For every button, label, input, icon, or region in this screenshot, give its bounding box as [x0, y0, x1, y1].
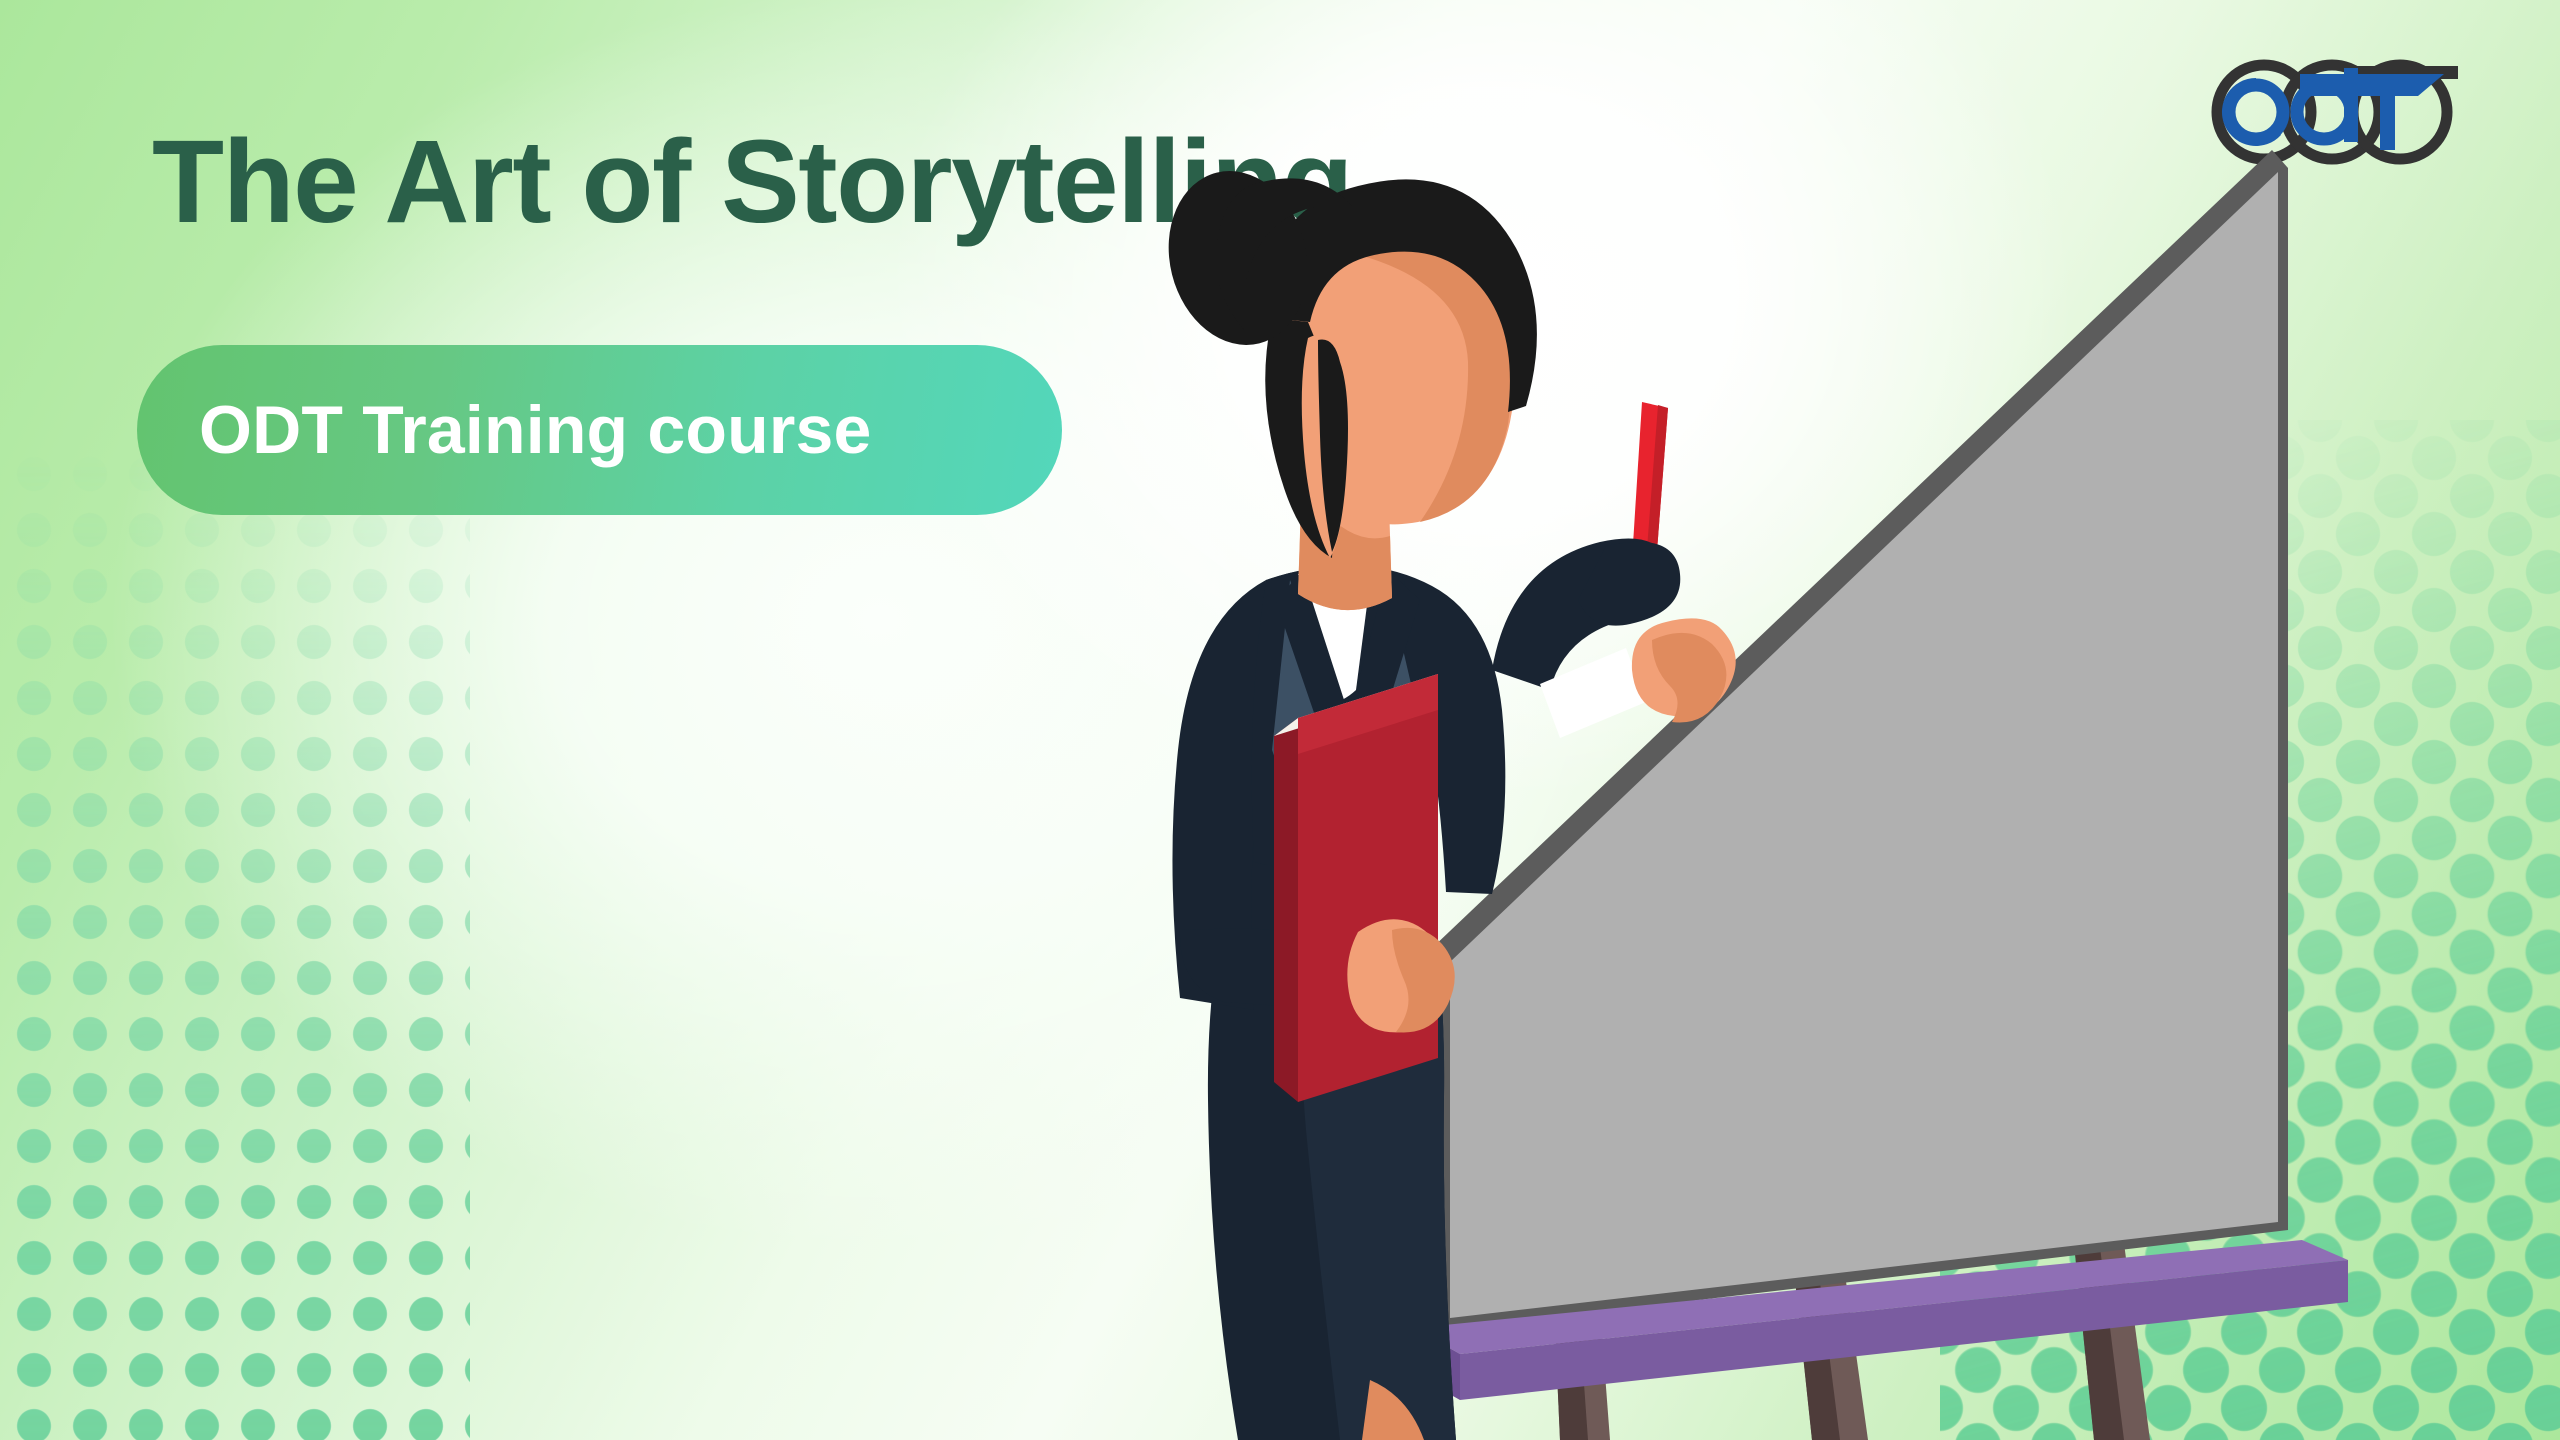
halftone-dots-left	[0, 440, 470, 1440]
halftone-dots-left-dense	[0, 440, 470, 1440]
raised-arm	[1492, 539, 1736, 739]
illustration-woman-presenting	[1040, 150, 2360, 1440]
book-hand	[1347, 919, 1454, 1032]
course-badge: ODT Training course	[137, 345, 1062, 515]
whiteboard	[1430, 150, 2288, 1330]
red-book	[1274, 674, 1438, 1102]
course-badge-label: ODT Training course	[199, 391, 872, 469]
logo-letter-group	[2222, 68, 2444, 150]
training-course-banner: The Art of Storytelling ODT Training cou…	[0, 0, 2560, 1440]
woman-head	[1151, 156, 1537, 558]
